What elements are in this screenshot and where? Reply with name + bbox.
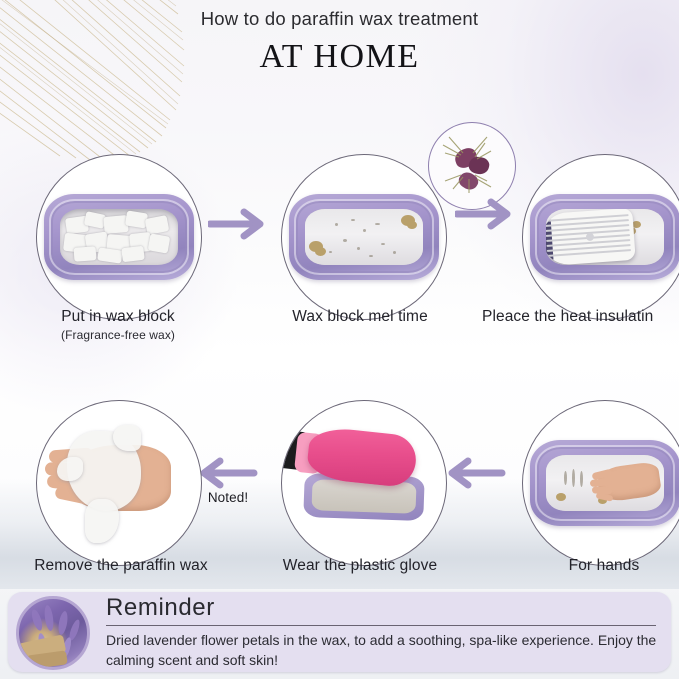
arrow-step1-to-step2: [208, 206, 270, 242]
step-1-label: Put in wax block: [14, 308, 222, 326]
tub-basin: [305, 209, 423, 265]
step-4-image: [522, 400, 679, 566]
arrow-step5-to-step6: [196, 455, 258, 491]
tub-basin: [546, 209, 664, 265]
wax-bath-tub-icon: [530, 440, 679, 526]
wax-bath-tub-icon: [530, 194, 679, 280]
step-1-image: [36, 154, 202, 320]
page-title: AT HOME: [0, 38, 679, 76]
arrow-step4-to-step5: [444, 455, 506, 491]
step-5-label: Wear the plastic glove: [250, 557, 470, 575]
step-2-label: Wax block mel time: [250, 308, 470, 326]
step-3-image: [522, 154, 679, 320]
step-6-label: Remove the paraffin wax: [6, 557, 236, 575]
wax-bath-tub-icon: [44, 194, 194, 280]
tub-basin: [60, 209, 178, 265]
tub-basin: [546, 455, 664, 511]
page-subtitle: How to do paraffin wax treatment: [0, 8, 679, 30]
step-2-image: [281, 154, 447, 320]
reminder-title: Reminder: [106, 594, 215, 622]
infographic-canvas: How to do paraffin wax treatment AT HOME: [0, 0, 679, 679]
step-4-label: For hands: [520, 557, 679, 575]
step-1-sublabel: (Fragrance-free wax): [14, 328, 222, 342]
lavender-photo: [16, 596, 90, 670]
heat-insulating-guard-icon: [546, 209, 636, 265]
step-6-image: [36, 400, 202, 566]
step-3-label: Pleace the heat insulatin: [482, 308, 679, 326]
wax-bath-tub-icon: [289, 194, 439, 280]
reminder-panel: Reminder Dried lavender flower petals in…: [8, 592, 671, 672]
reminder-divider: [106, 625, 656, 626]
reminder-body: Dried lavender flower petals in the wax,…: [106, 630, 662, 670]
arrow-step2-to-step3: [455, 196, 517, 232]
step-5-image: [281, 400, 447, 566]
